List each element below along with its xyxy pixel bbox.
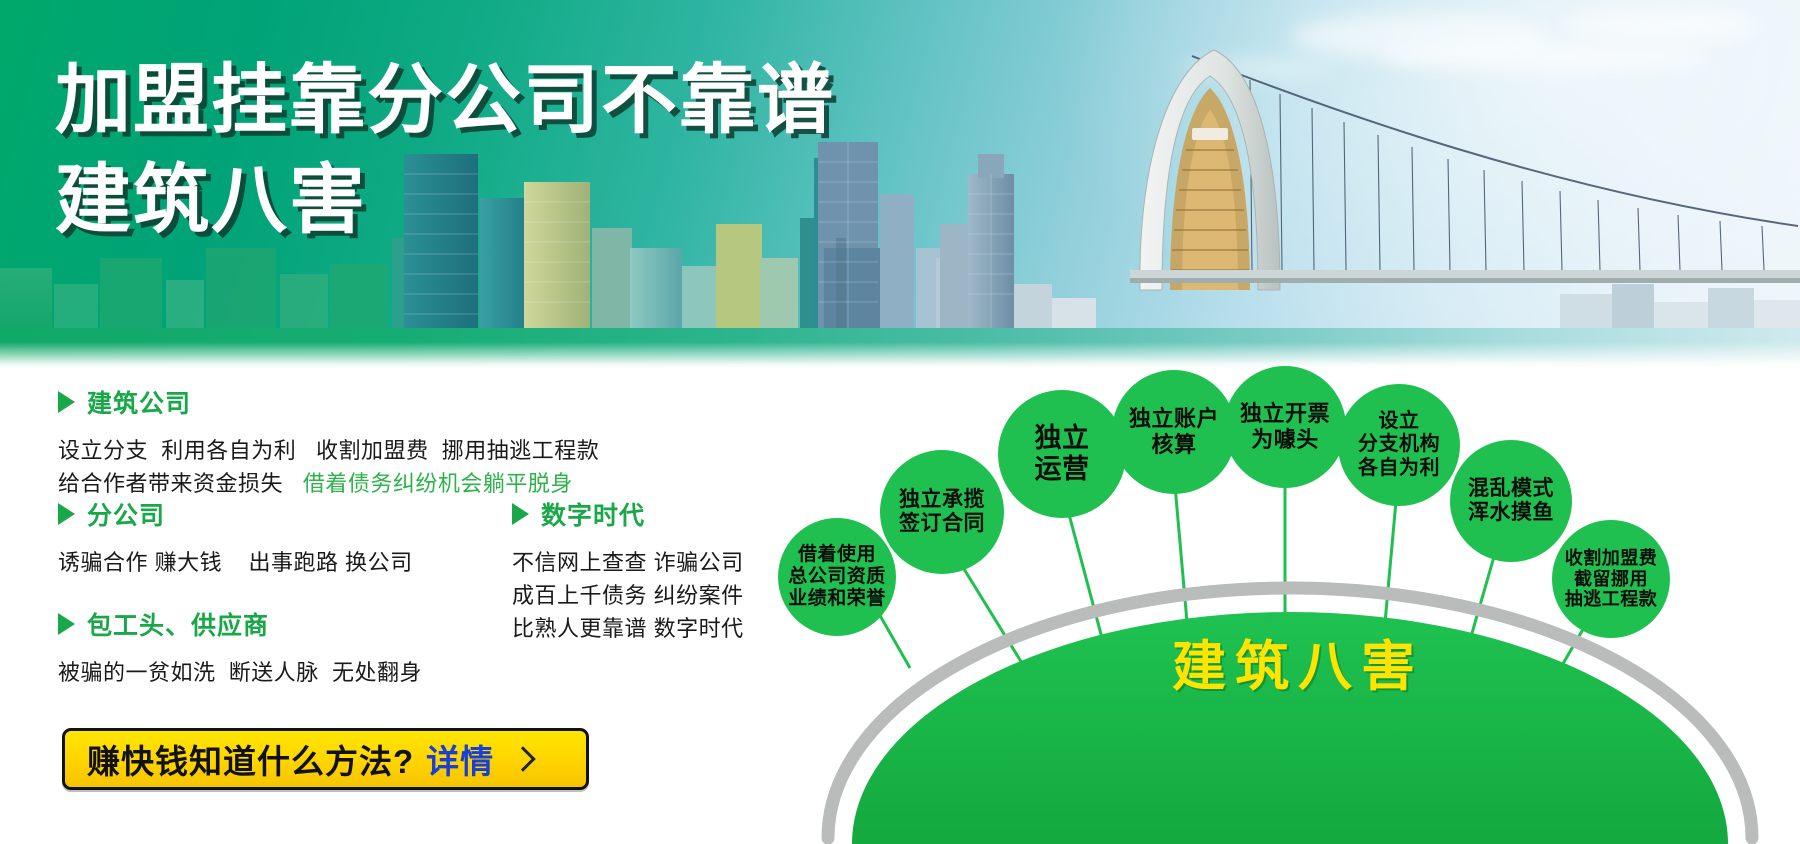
bubble-b5[interactable]: 独立开票 为噱头 (1224, 366, 1346, 488)
section-branch-company: 分公司 诱骗合作 赚大钱 出事跑路 换公司 (58, 496, 413, 579)
bubble-b4[interactable]: 独立账户 核算 (1112, 370, 1236, 494)
triangle-bullet-icon (58, 391, 75, 413)
body-line: 不信网上查查 诈骗公司 (512, 546, 744, 579)
section-title: 包工头、供应商 (87, 606, 269, 642)
chevron-right-icon (510, 746, 535, 771)
section-header: 包工头、供应商 (58, 606, 422, 642)
bubble-b6[interactable]: 设立 分支机构 各自为利 (1338, 384, 1460, 506)
cta-button[interactable]: 赚快钱知道什么方法? 详情 (62, 728, 589, 790)
cta-link-label[interactable]: 详情 (426, 735, 494, 783)
triangle-bullet-icon (58, 613, 75, 635)
bubble-b3[interactable]: 独立 运营 (998, 390, 1126, 518)
arch-title: 建筑八害 (988, 622, 1608, 701)
section-construction-company: 建筑公司 设立分支 利用各自为利 收割加盟费 挪用抽逃工程款 给合作者带来资金损… (58, 384, 599, 500)
section-title: 分公司 (87, 496, 165, 532)
body-accent-text: 借着债务纠纷机会躺平脱身 (303, 471, 573, 496)
section-contractor-supplier: 包工头、供应商 被骗的一贫如洗 断送人脉 无处翻身 (58, 606, 422, 689)
headline-line-1: 加盟挂靠分公司不靠谱 (55, 62, 835, 140)
headline-line-2: 建筑八害 (55, 162, 835, 240)
cloud-decoration (1560, 8, 1760, 42)
section-digital-era: 数字时代 不信网上查查 诈骗公司 成百上千债务 纠纷案件 比熟人更靠谱 数字时代 (512, 496, 744, 645)
hero-bottom-fade (0, 342, 1800, 368)
body-line: 比熟人更靠谱 数字时代 (512, 612, 744, 645)
bubble-b2[interactable]: 独立承揽 签订合同 (880, 450, 1004, 574)
bridge-svg (1130, 40, 1800, 330)
body-line: 成百上千债务 纠纷案件 (512, 579, 744, 612)
left-content-column: 建筑公司 设立分支 利用各自为利 收割加盟费 挪用抽逃工程款 给合作者带来资金损… (0, 368, 800, 844)
section-header: 建筑公司 (58, 384, 599, 420)
headline-block: 加盟挂靠分公司不靠谱 建筑八害 (55, 62, 835, 239)
bridge-illustration (1130, 40, 1800, 330)
bubble-b7[interactable]: 混乱模式 浑水摸鱼 (1450, 440, 1572, 562)
cta-main-label: 赚快钱知道什么方法? (87, 735, 414, 783)
triangle-bullet-icon (512, 503, 529, 525)
section-body: 不信网上查查 诈骗公司 成百上千债务 纠纷案件 比熟人更靠谱 数字时代 (512, 546, 744, 645)
section-title: 建筑公司 (87, 384, 191, 420)
bubble-b8[interactable]: 收割加盟费 截留挪用 抽逃工程款 (1552, 520, 1670, 638)
section-body: 设立分支 利用各自为利 收割加盟费 挪用抽逃工程款 给合作者带来资金损失 借着债… (58, 434, 599, 500)
bubble-diagram: 借着使用 总公司资质 业绩和荣誉 独立承揽 签订合同 独立 运营 独立账户 核算… (790, 368, 1800, 844)
section-header: 数字时代 (512, 496, 744, 532)
section-body: 被骗的一贫如洗 断送人脉 无处翻身 (58, 656, 422, 689)
hero-banner: 加盟挂靠分公司不靠谱 建筑八害 (0, 0, 1800, 368)
body-line: 设立分支 利用各自为利 收割加盟费 挪用抽逃工程款 (58, 434, 599, 467)
bubble-b1[interactable]: 借着使用 总公司资质 业绩和荣誉 (778, 518, 896, 636)
section-body: 诱骗合作 赚大钱 出事跑路 换公司 (58, 546, 413, 579)
body-line: 诱骗合作 赚大钱 出事跑路 换公司 (58, 546, 413, 579)
body-text: 设立分支 利用各自为利 收割加盟费 挪用抽逃工程款 (58, 438, 599, 463)
poster-root: 加盟挂靠分公司不靠谱 建筑八害 建筑公司 设立分支 利用各自为利 收割加盟费 挪… (0, 0, 1800, 844)
section-header: 分公司 (58, 496, 413, 532)
triangle-bullet-icon (58, 503, 75, 525)
section-title: 数字时代 (541, 496, 645, 532)
body-line: 被骗的一贫如洗 断送人脉 无处翻身 (58, 656, 422, 689)
body-text: 给合作者带来资金损失 (58, 471, 303, 496)
